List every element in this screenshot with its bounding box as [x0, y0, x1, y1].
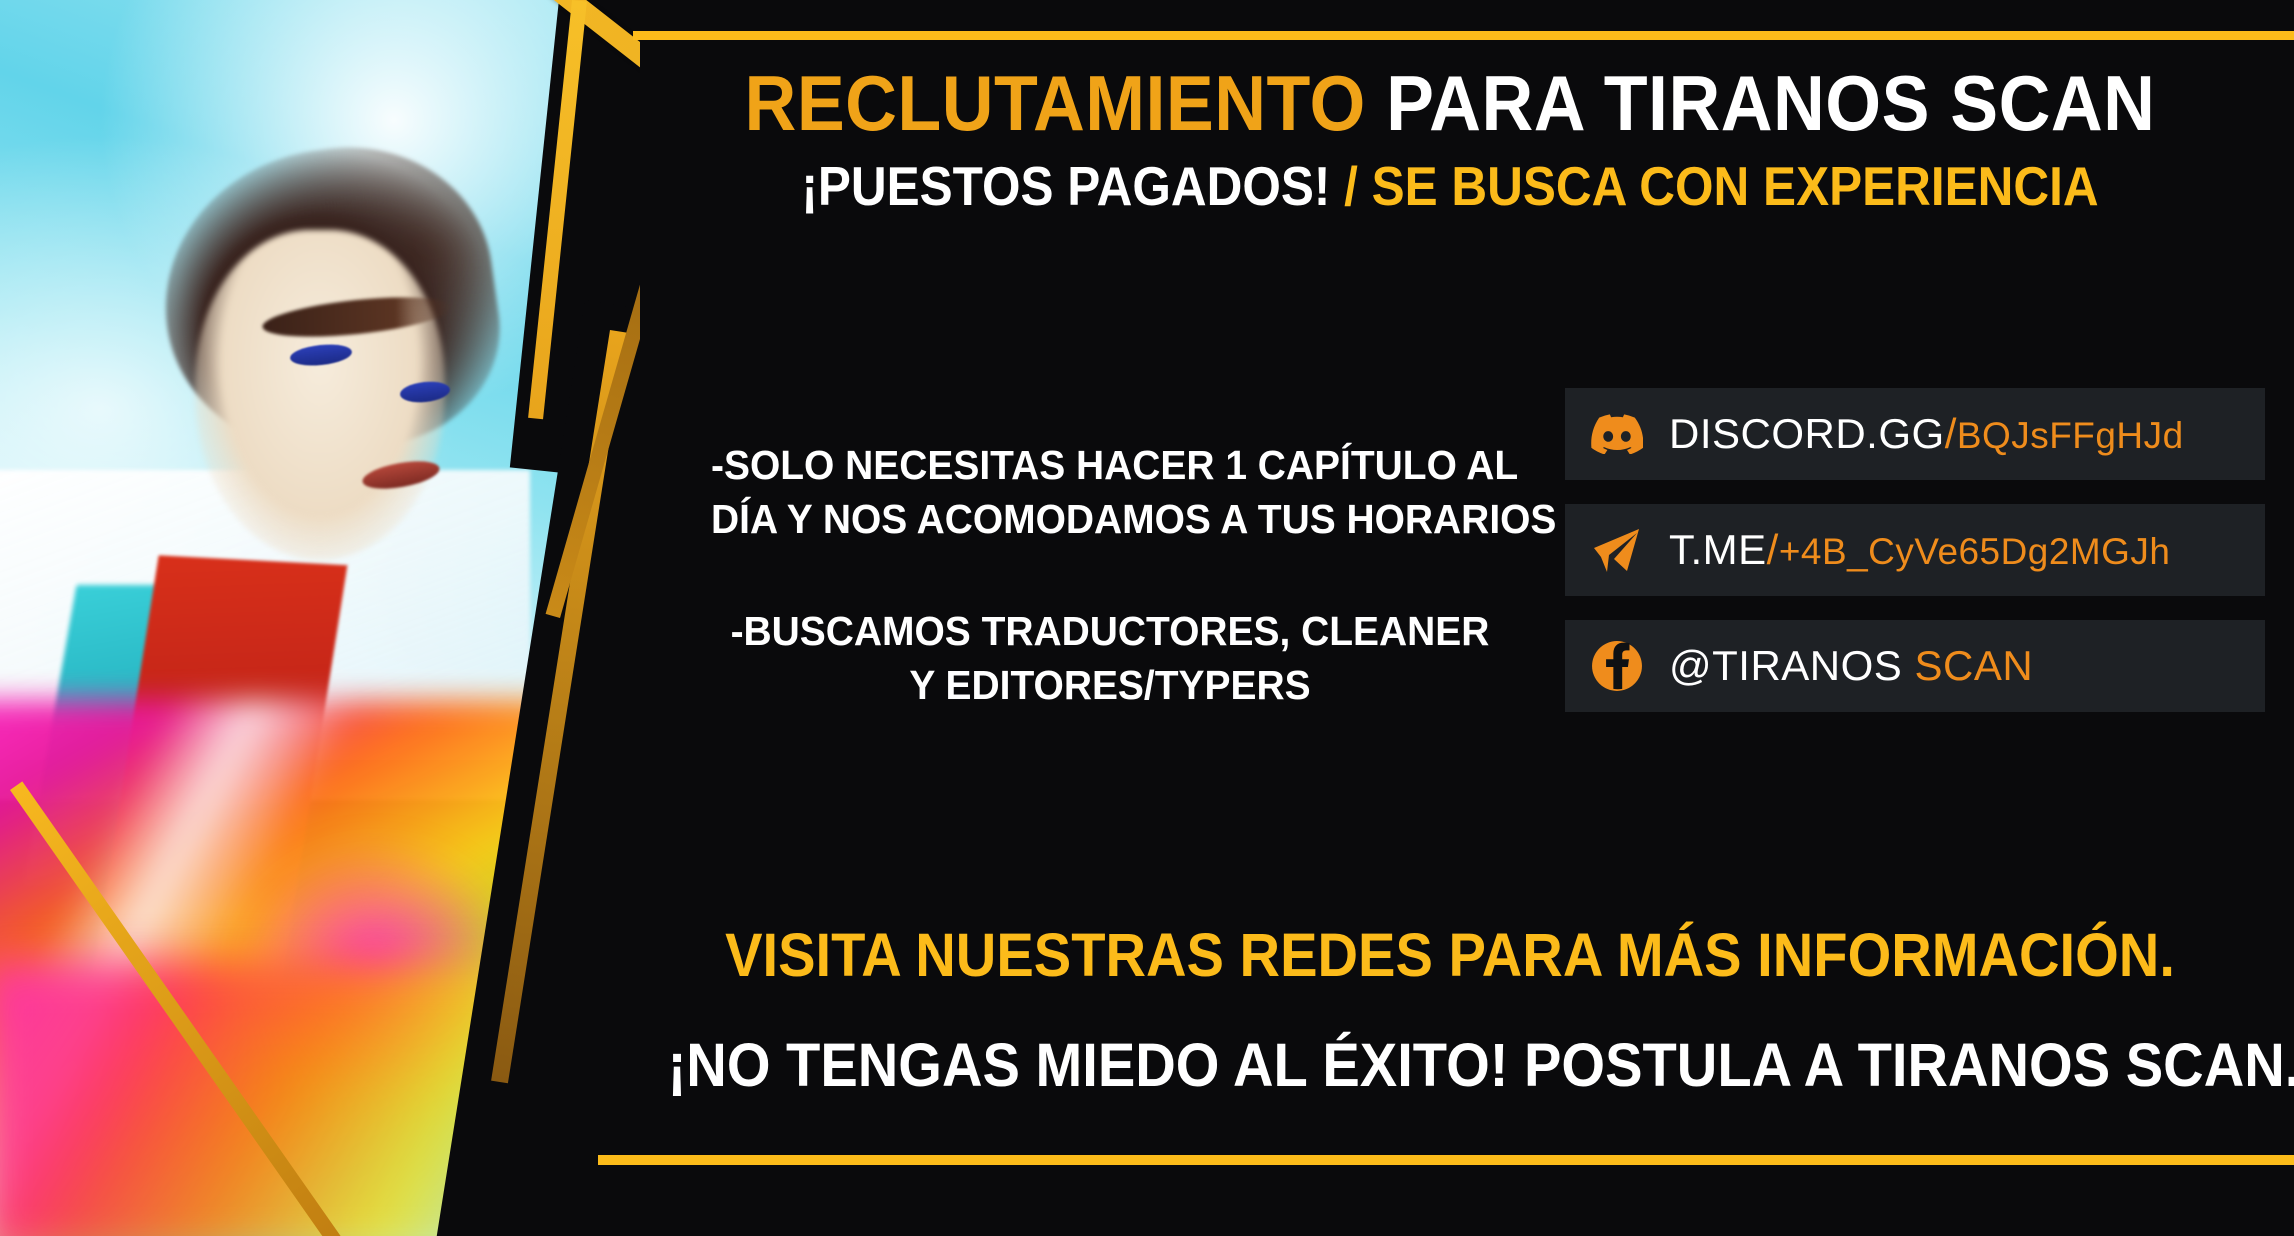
- requirement-2-line-2: Y EDITORES/TYPERS: [711, 658, 1509, 712]
- contact-telegram[interactable]: T.ME/+4B_CyVe65Dg2MGJh: [1565, 504, 2265, 596]
- subtitle-paid-positions: ¡PUESTOS PAGADOS!: [801, 155, 1330, 217]
- facebook-handle: @TIRANOS: [1669, 642, 1902, 689]
- telegram-invite-code: +4B_CyVe65Dg2MGJh: [1779, 531, 2171, 572]
- subtitle-experience: / SE BUSCA CON EXPERIENCIA: [1330, 155, 2098, 217]
- requirement-paragraph-1: -SOLO NECESITAS HACER 1 CAPÍTULO AL DÍA …: [690, 438, 1530, 546]
- facebook-handle-suffix: SCAN: [1915, 642, 2034, 689]
- requirement-1-line-2: DÍA Y NOS ACOMODAMOS A TUS HORARIOS: [711, 492, 1509, 546]
- gold-rule-bottom: [598, 1155, 2294, 1165]
- page-subtitle: ¡PUESTOS PAGADOS! / SE BUSCA CON EXPERIE…: [703, 158, 2197, 216]
- requirement-2-line-1: -BUSCAMOS TRADUCTORES, CLEANER: [711, 604, 1509, 658]
- cta-line-2: ¡NO TENGAS MIEDO AL ÉXITO! POSTULA A TIR…: [668, 1030, 2223, 1100]
- requirement-paragraph-2: -BUSCAMOS TRADUCTORES, CLEANER Y EDITORE…: [690, 604, 1530, 712]
- gold-rule-top: [633, 31, 2294, 40]
- discord-icon: [1591, 408, 1643, 460]
- discord-domain: DISCORD.GG: [1669, 410, 1945, 457]
- cta-line-1: VISITA NUESTRAS REDES PARA MÁS INFORMACI…: [686, 920, 2213, 990]
- page-title: RECLUTAMIENTO PARA TIRANOS SCAN: [686, 63, 2213, 145]
- contact-list: DISCORD.GG/BQJsFFgHJd T.ME/+4B_CyVe65Dg2…: [1565, 388, 2265, 736]
- title-highlight: RECLUTAMIENTO: [745, 59, 1366, 147]
- telegram-domain: T.ME: [1669, 526, 1767, 573]
- requirement-1-line-1: -SOLO NECESITAS HACER 1 CAPÍTULO AL: [711, 438, 1509, 492]
- title-rest: PARA TIRANOS SCAN: [1366, 59, 2156, 147]
- telegram-icon: [1591, 524, 1643, 576]
- contact-discord-text: DISCORD.GG/BQJsFFgHJd: [1669, 410, 2184, 458]
- contact-facebook-text: @TIRANOS SCAN: [1669, 642, 2033, 690]
- contact-discord[interactable]: DISCORD.GG/BQJsFFgHJd: [1565, 388, 2265, 480]
- telegram-separator: /: [1767, 526, 1779, 573]
- contact-telegram-text: T.ME/+4B_CyVe65Dg2MGJh: [1669, 526, 2170, 574]
- requirements-block: -SOLO NECESITAS HACER 1 CAPÍTULO AL DÍA …: [690, 438, 1530, 712]
- discord-invite-code: BQJsFFgHJd: [1957, 415, 2184, 456]
- contact-facebook[interactable]: @TIRANOS SCAN: [1565, 620, 2265, 712]
- facebook-icon: [1591, 640, 1643, 692]
- discord-separator: /: [1945, 410, 1957, 457]
- facebook-separator: [1902, 642, 1914, 689]
- artwork-panel: [0, 0, 640, 1236]
- recruitment-banner: RECLUTAMIENTO PARA TIRANOS SCAN ¡PUESTOS…: [0, 0, 2294, 1236]
